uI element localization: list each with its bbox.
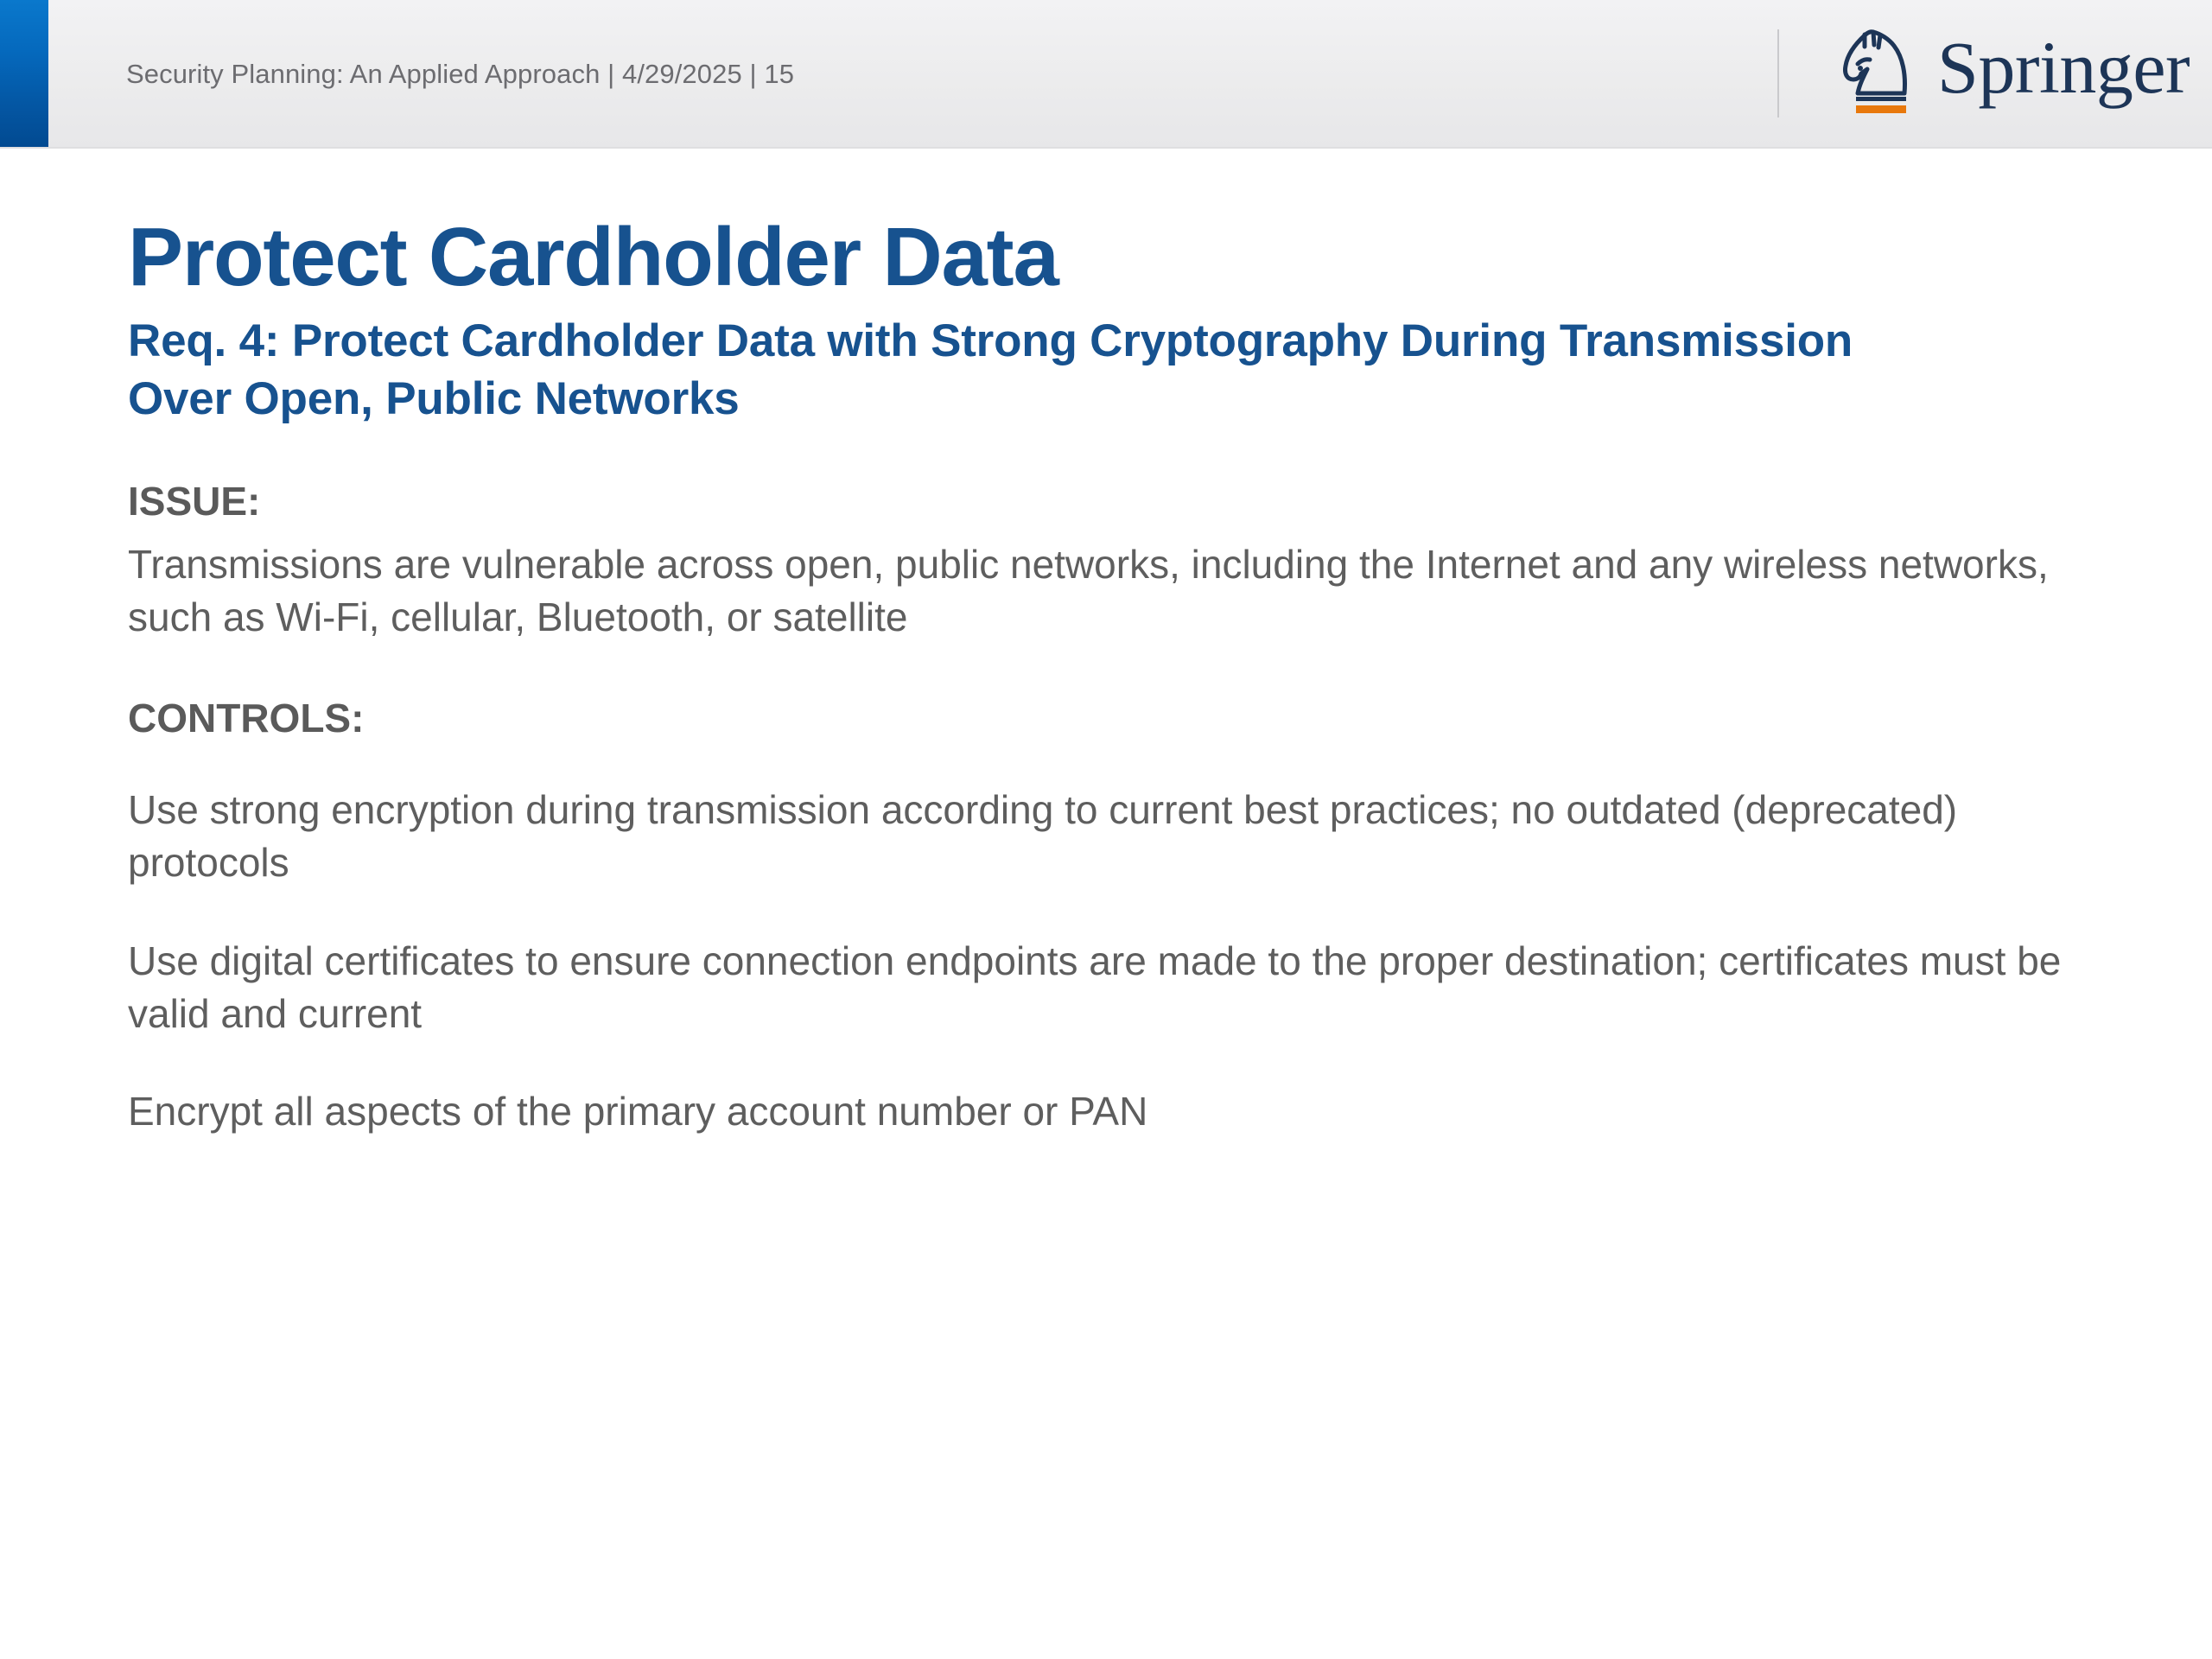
list-item: Encrypt all aspects of the primary accou… (128, 1085, 2107, 1138)
controls-label: CONTROLS: (128, 693, 2115, 745)
header-divider (1777, 29, 1779, 118)
controls-section: CONTROLS: Use strong encryption during t… (128, 693, 2115, 1139)
slide-header: Security Planning: An Applied Approach |… (0, 0, 2212, 149)
list-item: Use strong encryption during transmissio… (128, 784, 2107, 889)
issue-section: ISSUE: Transmissions are vulnerable acro… (128, 476, 2115, 644)
section-spacer (128, 645, 2115, 693)
controls-list: Use strong encryption during transmissio… (128, 784, 2115, 1138)
page-title: Protect Cardholder Data (128, 214, 2115, 301)
springer-logo: Springer (1839, 19, 2190, 121)
page-subtitle: Req. 4: Protect Cardholder Data with Str… (128, 313, 1899, 429)
slide-body: Protect Cardholder Data Req. 4: Protect … (128, 214, 2115, 1138)
springer-wordmark: Springer (1937, 30, 2190, 110)
header-meta-text: Security Planning: An Applied Approach |… (126, 0, 794, 149)
issue-text: Transmissions are vulnerable across open… (128, 538, 2107, 644)
slide-canvas: Security Planning: An Applied Approach |… (0, 0, 2212, 1659)
springer-knight-icon (1839, 24, 1922, 116)
issue-label: ISSUE: (128, 476, 2115, 528)
header-accent-bar (0, 0, 48, 147)
list-item: Use digital certificates to ensure conne… (128, 935, 2107, 1040)
